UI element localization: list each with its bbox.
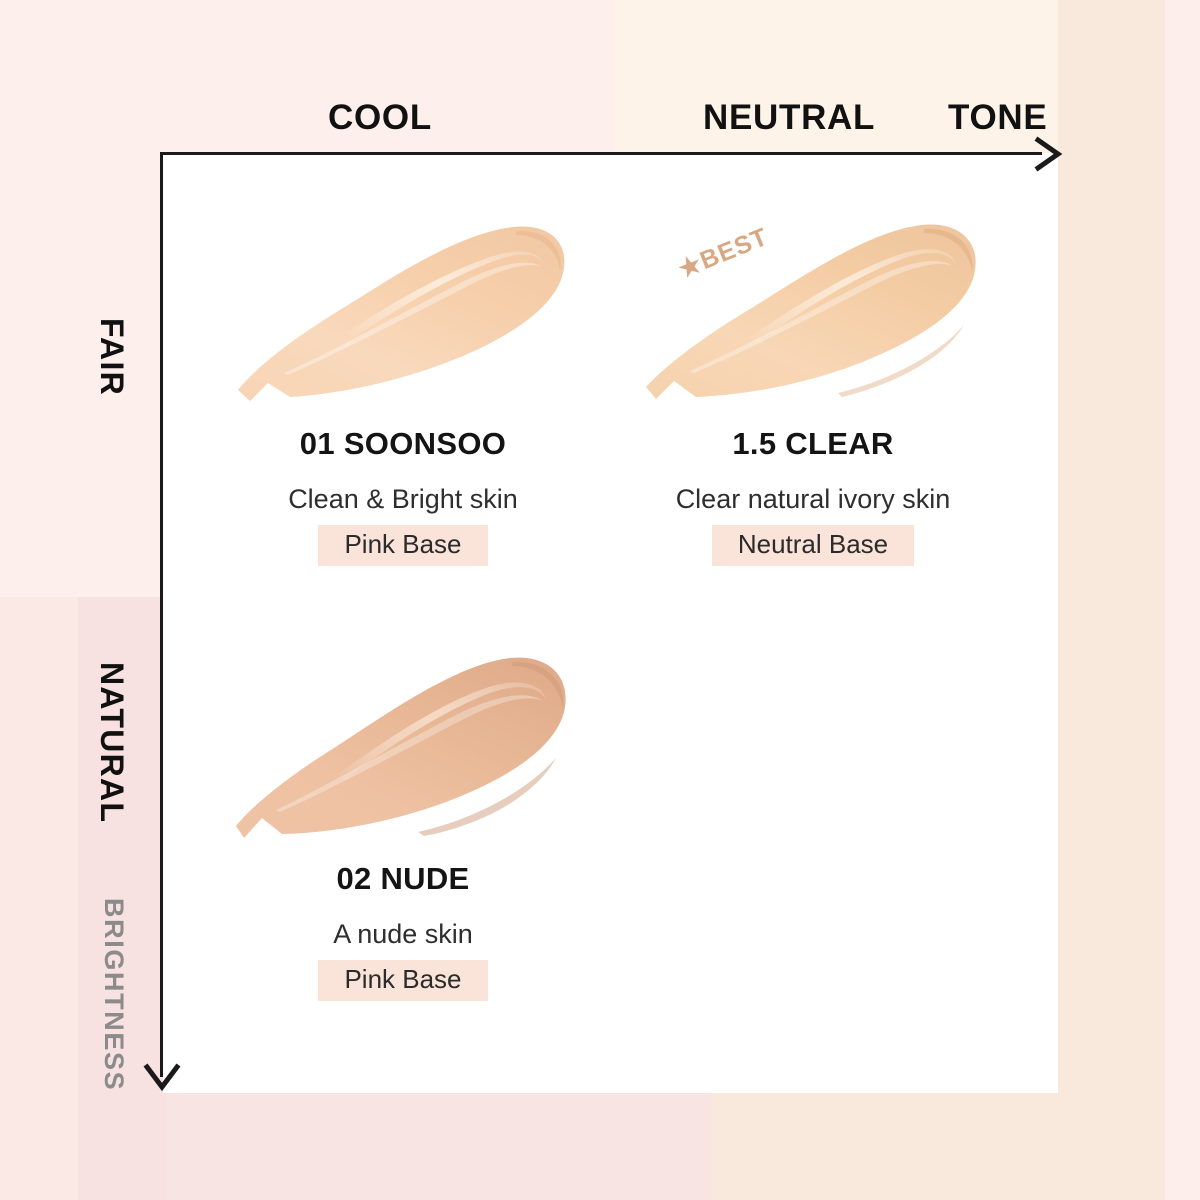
- base-tag-nude: Pink Base: [318, 960, 487, 1001]
- product-cell-clear[interactable]: ★BEST 1.5 CLEAR Clear natural ivory skin…: [638, 205, 988, 566]
- background-pink-bottom-left: [166, 1093, 711, 1200]
- axis-label-tone: TONE: [948, 98, 1047, 138]
- product-cell-soonsoo[interactable]: 01 SOONSOO Clean & Bright skin Pink Base: [228, 205, 578, 566]
- product-cell-nude[interactable]: 02 NUDE A nude skin Pink Base: [228, 640, 578, 1001]
- background-cream-bottom: [711, 1093, 1165, 1200]
- base-tag-clear: Neutral Base: [712, 525, 914, 566]
- background-cream-right-column: [1058, 0, 1165, 1093]
- swatch-wrap-nude: [228, 640, 578, 855]
- base-row-nude: Pink Base: [228, 960, 578, 1001]
- axis-label-fair: FAIR: [93, 318, 130, 396]
- axis-label-neutral: NEUTRAL: [703, 98, 875, 138]
- arrow-right-icon: [1028, 134, 1068, 174]
- swatch-nude: [228, 640, 578, 855]
- axis-label-natural: NATURAL: [93, 662, 130, 823]
- product-description-nude: A nude skin: [228, 919, 578, 950]
- swatch-wrap-soonsoo: [228, 205, 578, 420]
- background-pink-far-right: [1165, 0, 1200, 1200]
- base-row-soonsoo: Pink Base: [228, 525, 578, 566]
- product-description-clear: Clear natural ivory skin: [638, 484, 988, 515]
- axis-label-cool: COOL: [328, 98, 432, 138]
- axis-label-brightness: BRIGHTNESS: [98, 898, 129, 1091]
- product-name-clear: 1.5 CLEAR: [638, 426, 988, 462]
- swatch-wrap-clear: ★BEST: [638, 205, 988, 420]
- base-tag-soonsoo: Pink Base: [318, 525, 487, 566]
- shade-chart-infographic: COOL NEUTRAL TONE FAIR NATURAL BRIGHTNES…: [0, 0, 1200, 1200]
- base-row-clear: Neutral Base: [638, 525, 988, 566]
- product-name-nude: 02 NUDE: [228, 861, 578, 897]
- y-axis-line: [160, 152, 163, 1077]
- background-pink-left-strip: [0, 597, 78, 1200]
- arrow-down-icon: [142, 1055, 182, 1097]
- product-name-soonsoo: 01 SOONSOO: [228, 426, 578, 462]
- swatch-soonsoo: [228, 205, 578, 420]
- x-axis-line: [160, 152, 1042, 155]
- product-description-soonsoo: Clean & Bright skin: [228, 484, 578, 515]
- swatch-clear: [638, 205, 988, 420]
